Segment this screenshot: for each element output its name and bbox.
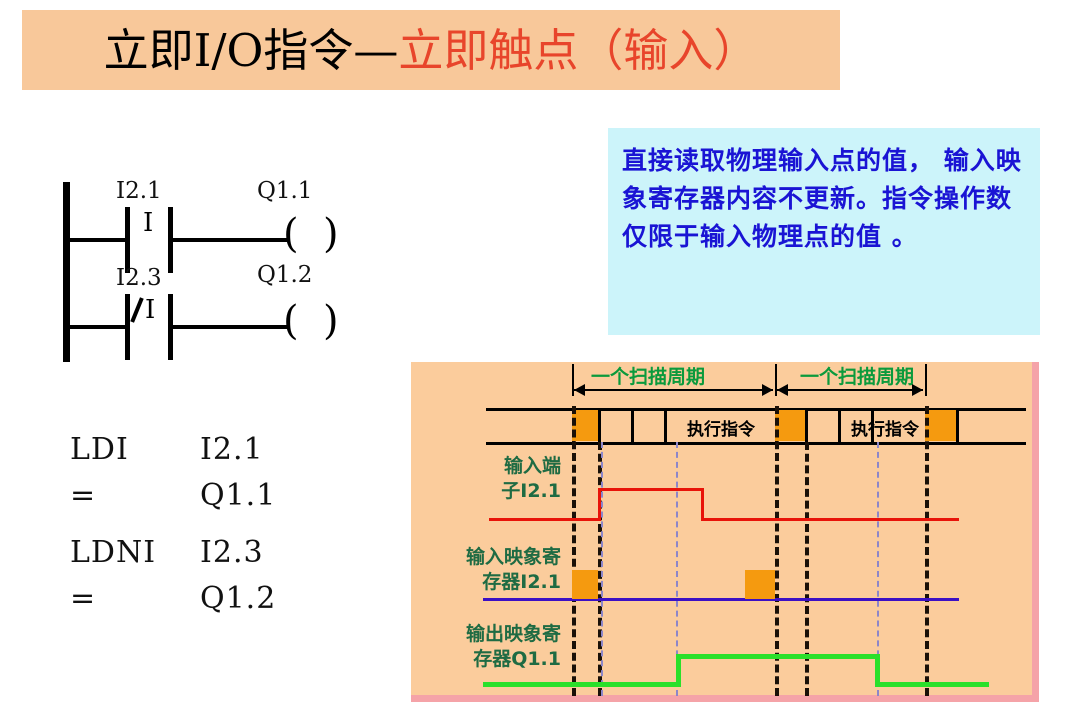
stl-row-3-arg: Q1.2 (200, 581, 276, 616)
rung2-wire-left (68, 325, 128, 329)
scan-sample-block-2 (775, 410, 805, 441)
cycle-boundary-3 (925, 364, 927, 396)
rung2-contact-bar-left (125, 294, 130, 360)
rung1-coil-label: Q1.1 (257, 178, 312, 204)
scan-cell-divider-7 (838, 408, 841, 445)
rung1-contact-type: I (143, 208, 153, 238)
scan-cell-divider-6 (805, 408, 808, 445)
signal-input-terminal-high (598, 488, 704, 491)
rung1-coil-close: ) (323, 214, 339, 254)
stl-row-3-op: = (70, 581, 96, 616)
stl-row-0-arg: I2.1 (200, 432, 264, 467)
exec-instruction-label-2: 执行指令 (851, 415, 919, 440)
signal-output-image-low-right (875, 682, 989, 687)
stl-instruction-list: LDI I2.1 = Q1.1 LDNI I2.3 = Q1.2 (70, 432, 390, 617)
rung2-contact-label: I2.3 (116, 265, 162, 291)
rung1-wire-right (171, 238, 287, 242)
scan-cycle-arrow-1-right-head (762, 384, 773, 396)
scan-cycle-arrow-2 (777, 389, 923, 391)
signal-input-terminal-low-left (489, 518, 600, 521)
scan-cell-divider-3 (631, 408, 634, 445)
ladder-left-rail (63, 182, 70, 362)
signal-input-terminal-rise (598, 488, 601, 521)
input-image-sample-block-1 (572, 570, 598, 599)
rung2-coil-close: ) (323, 301, 339, 341)
exec-instruction-label-1: 执行指令 (687, 415, 755, 440)
scan-cycle-label-2: 一个扫描周期 (800, 362, 914, 389)
rung2-coil-open: ( (283, 301, 299, 341)
signal-input-terminal-low-right (701, 518, 959, 521)
scan-cycle-arrow-1-left-head (574, 384, 585, 396)
scan-cycle-arrow-2-right-head (912, 384, 923, 396)
scan-cycle-arrow-2-left-head (777, 384, 788, 396)
rung1-wire-left (68, 238, 128, 242)
stl-row-1-arg: Q1.1 (200, 478, 276, 513)
rung2-negation-slash-icon (130, 297, 143, 323)
signal-input-terminal-fall (701, 488, 704, 521)
rung1-contact-bar-left (125, 207, 130, 273)
stl-row-2-arg: I2.3 (200, 535, 264, 570)
row-label-input-image-register: 输入映象寄 存器I2.1 (411, 545, 561, 595)
scan-cycle-label-1: 一个扫描周期 (591, 362, 705, 389)
timing-diagram-panel: 一个扫描周期 一个扫描周期 执行指令 执行指令 输入端 子I2.1 输入映象寄 (411, 362, 1039, 702)
title-part-red: 立即触点（输入） (398, 24, 758, 77)
rung1-coil-open: ( (283, 214, 299, 254)
ref-line-scan-start-2 (775, 406, 779, 696)
row-label-input-terminal: 输入端 子I2.1 (416, 454, 561, 504)
scan-cycle-arrow-1 (574, 389, 773, 391)
signal-output-image-high (676, 654, 880, 659)
scan-sample-block-3 (925, 410, 956, 441)
page-title: 立即I/O指令—立即触点（输入） (104, 28, 759, 73)
title-banner: 立即I/O指令—立即触点（输入） (22, 10, 840, 90)
description-note-text: 直接读取物理输入点的值， 输入映象寄存器内容不更新。指令操作数仅限于输入物理点的… (622, 142, 1028, 256)
rung2-contact-type: I (145, 295, 155, 325)
stl-row-2-op: LDNI (70, 535, 156, 570)
scan-cell-divider-2 (598, 408, 601, 445)
rung1-contact-label: I2.1 (116, 178, 162, 204)
rung2-wire-right (171, 325, 287, 329)
signal-input-image-register (483, 598, 959, 601)
ref-line-scan-start-1 (572, 406, 576, 696)
scan-cell-divider-9 (956, 408, 959, 445)
stl-row-1-op: = (70, 478, 96, 513)
input-image-sample-block-2 (745, 570, 775, 599)
description-note-box: 直接读取物理输入点的值， 输入映象寄存器内容不更新。指令操作数仅限于输入物理点的… (608, 128, 1040, 335)
stl-row-0-op: LDI (70, 432, 129, 467)
row-label-output-image-register: 输出映象寄 存器Q1.1 (411, 622, 561, 672)
rung2-coil-label: Q1.2 (257, 262, 312, 288)
ref-line-input-rise (601, 442, 603, 696)
ref-line-scan-start-3 (925, 406, 929, 696)
title-part-black: 立即I/O指令— (104, 24, 399, 77)
scan-cell-divider-4 (664, 408, 667, 445)
scan-bar-bottom-rail (486, 442, 1026, 445)
signal-output-image-low-left (483, 682, 679, 687)
ladder-diagram: I2.1 I Q1.1 ( ) I2.3 I Q1.2 ( ) (55, 180, 365, 370)
